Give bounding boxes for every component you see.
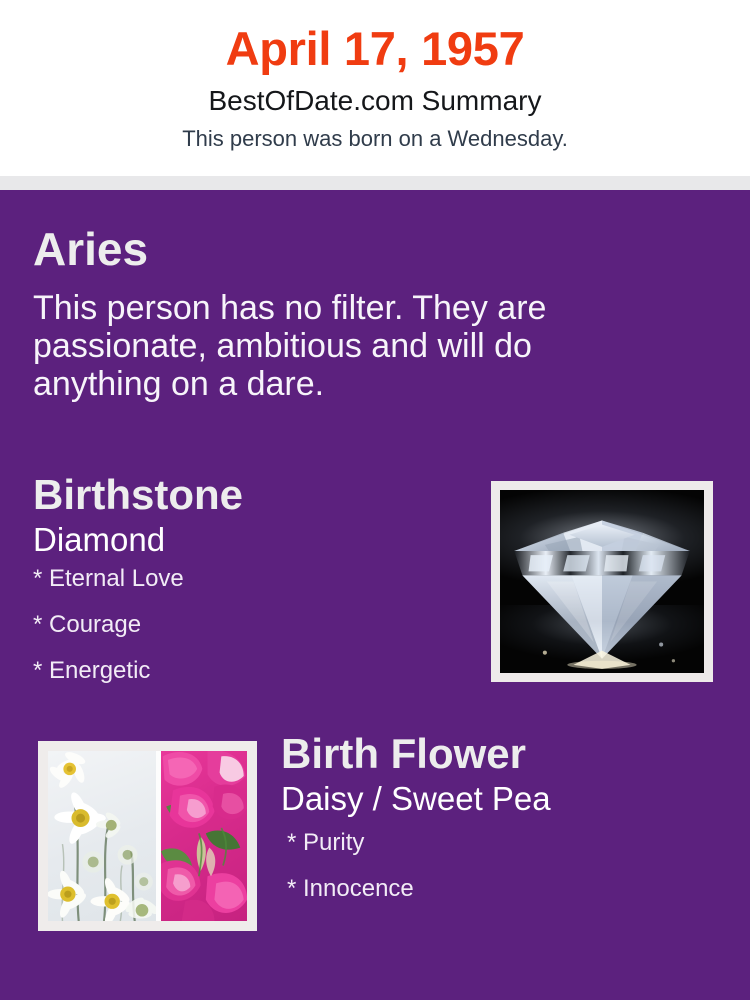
birthstone-trait-list: * Eternal Love * Courage * Energetic [33,567,463,683]
zodiac-section: Aries This person has no filter. They ar… [33,226,673,403]
birth-flower-trait-list: * Purity * Innocence [281,831,681,901]
birthstone-image-frame [491,481,713,682]
daisy-flowers-icon [48,751,156,921]
birth-flower-image-frame [38,741,257,931]
zodiac-sign-name: Aries [33,226,673,272]
list-item: * Purity [287,831,681,855]
zodiac-description: This person has no filter. They are pass… [33,289,648,403]
card-header: April 17, 1957 BestOfDate.com Summary Th… [0,0,750,176]
birthstone-section: Birthstone Diamond * Eternal Love * Cour… [33,474,463,705]
site-summary-subtitle: BestOfDate.com Summary [0,84,750,118]
list-item: * Innocence [287,877,681,901]
sweet-pea-flowers-icon [161,751,247,921]
daisy-photo-pane [48,751,156,921]
sweet-pea-photo-pane [161,751,247,921]
birth-flower-name: Daisy / Sweet Pea [281,782,681,817]
diamond-photo [500,490,704,673]
birth-flower-photo [48,751,247,921]
list-item: * Energetic [33,659,463,683]
birth-flower-heading: Birth Flower [281,733,681,775]
card-body: Aries This person has no filter. They ar… [0,190,750,1000]
date-title: April 17, 1957 [0,24,750,75]
birthstone-name: Diamond [33,523,463,558]
summary-card: April 17, 1957 BestOfDate.com Summary Th… [0,0,750,1000]
diamond-icon [500,490,704,673]
birth-flower-section: Birth Flower Daisy / Sweet Pea * Purity … [281,733,681,923]
list-item: * Eternal Love [33,567,463,591]
header-divider [0,176,750,190]
birth-weekday-line: This person was born on a Wednesday. [0,126,750,152]
birthstone-heading: Birthstone [33,474,463,516]
list-item: * Courage [33,613,463,637]
